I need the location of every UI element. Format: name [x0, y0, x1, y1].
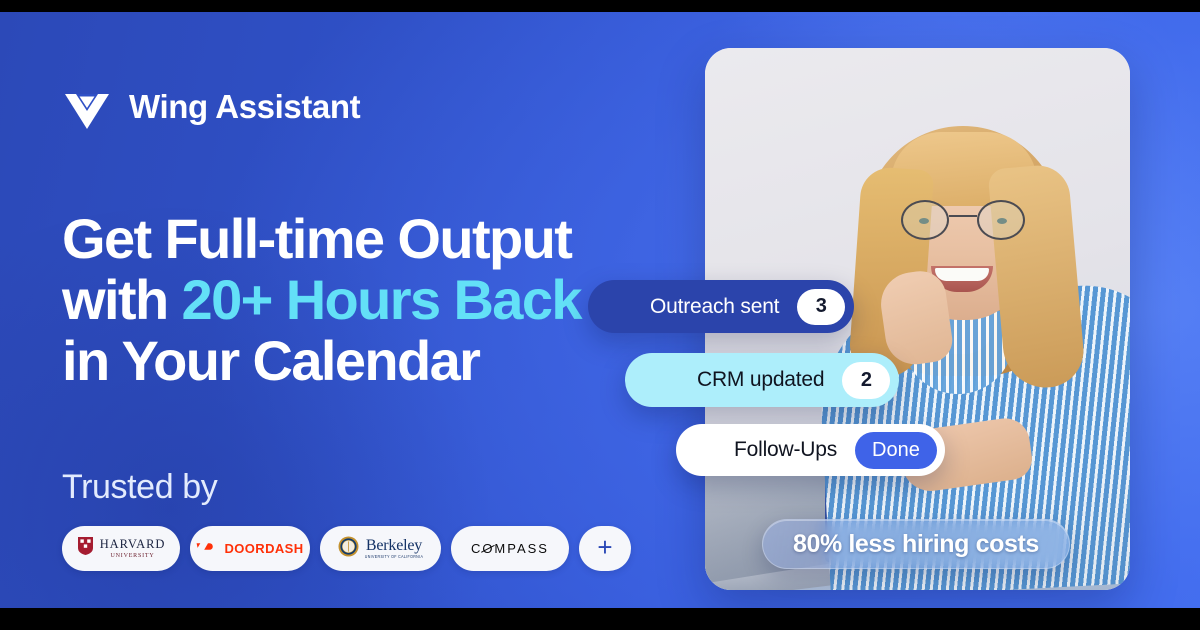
status-badge: Done [855, 432, 937, 469]
stat-card-hiring-costs: 80% less hiring costs [762, 519, 1070, 569]
headline-line-1: Get Full-time Output [62, 207, 571, 270]
status-card-label: CRM updated [697, 368, 824, 392]
brand-lockup[interactable]: Wing Assistant [62, 82, 360, 132]
brand-name: Wing Assistant [129, 88, 360, 126]
status-badge: 3 [797, 289, 845, 325]
status-card-label: Follow-Ups [734, 438, 837, 462]
headline-accent: 20+ Hours Back [182, 268, 581, 331]
berkeley-wordmark: Berkeley [366, 538, 422, 554]
more-logos-button[interactable]: + [579, 526, 631, 571]
stat-card-label: 80% less hiring costs [793, 530, 1039, 559]
harvard-wordmark: HARVARD [100, 538, 166, 551]
status-card-label: Outreach sent [650, 295, 779, 319]
headline-line-3: in Your Calendar [62, 329, 479, 392]
status-card-outreach-sent[interactable]: Outreach sent 3 [588, 280, 854, 333]
logo-pill-compass[interactable]: COMPASS [451, 526, 569, 571]
status-badge: 2 [842, 362, 890, 399]
harvard-shield-icon [77, 536, 94, 561]
letterbox-bottom [0, 608, 1200, 630]
harvard-subtext: UNIVERSITY [111, 553, 155, 559]
banner-canvas: Wing Assistant Get Full-time Output with… [0, 12, 1200, 608]
wing-w-mark-icon [62, 82, 112, 132]
berkeley-subtext: UNIVERSITY OF CALIFORNIA [365, 555, 423, 559]
doordash-wordmark: DOORDASH [224, 541, 303, 556]
page-title: Get Full-time Output with 20+ Hours Back… [62, 209, 581, 391]
status-card-follow-ups[interactable]: Follow-Ups Done [676, 424, 945, 476]
letterbox-top [0, 0, 1200, 12]
trusted-by-label: Trusted by [62, 468, 217, 507]
compass-slashed-o-icon: O [482, 541, 494, 556]
plus-icon: + [597, 534, 612, 560]
status-card-crm-updated[interactable]: CRM updated 2 [625, 353, 899, 407]
logo-pill-harvard[interactable]: HARVARD UNIVERSITY [62, 526, 180, 571]
ad-banner: Wing Assistant Get Full-time Output with… [0, 0, 1200, 630]
trusted-logo-row: HARVARD UNIVERSITY DOORDASH [62, 526, 631, 571]
logo-pill-berkeley[interactable]: Berkeley UNIVERSITY OF CALIFORNIA [320, 526, 441, 571]
compass-wordmark: COMPASS [471, 541, 549, 556]
berkeley-seal-icon [338, 536, 359, 562]
doordash-dash-icon [196, 539, 218, 558]
headline-line-2-prefix: with [62, 268, 182, 331]
logo-pill-doordash[interactable]: DOORDASH [190, 526, 310, 571]
